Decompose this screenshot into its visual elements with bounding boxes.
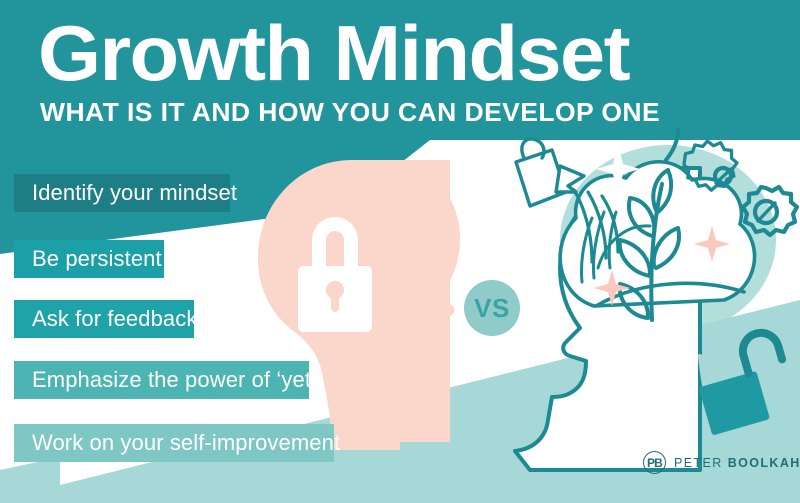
- header-block: Growth Mindset WHAT IS IT AND HOW YOU CA…: [38, 16, 768, 128]
- brand-logo[interactable]: PB PETER BOOLKAH: [643, 451, 800, 474]
- logo-monogram-icon: PB: [643, 451, 666, 474]
- infographic-poster: Growth Mindset WHAT IS IT AND HOW YOU CA…: [0, 0, 800, 503]
- tip-label: Ask for feedback: [32, 306, 197, 332]
- tip-item-2[interactable]: Be persistent: [14, 240, 164, 278]
- tip-label: Identify your mindset: [32, 180, 237, 206]
- page-title: Growth Mindset: [38, 16, 797, 91]
- tip-item-3[interactable]: Ask for feedback: [14, 300, 194, 338]
- pink-neck-fill: [330, 416, 400, 450]
- tip-item-5[interactable]: Work on your self-improvement: [14, 424, 334, 462]
- tip-label: Be persistent: [32, 246, 162, 272]
- logo-first-word: PETER: [674, 456, 723, 470]
- vs-label: VS: [474, 293, 510, 324]
- page-subtitle: WHAT IS IT AND HOW YOU CAN DEVELOP ONE: [40, 97, 783, 128]
- tip-item-4[interactable]: Emphasize the power of ‘yet.’: [14, 361, 309, 399]
- logo-wordmark: PETER BOOLKAH: [674, 456, 800, 470]
- logo-second-word: BOOLKAH: [728, 456, 800, 470]
- tip-label: Emphasize the power of ‘yet.’: [32, 367, 322, 393]
- tip-item-1[interactable]: Identify your mindset: [14, 174, 230, 212]
- tip-label: Work on your self-improvement: [32, 430, 340, 456]
- vs-badge: VS: [464, 280, 520, 336]
- logo-monogram-text: PB: [647, 456, 662, 470]
